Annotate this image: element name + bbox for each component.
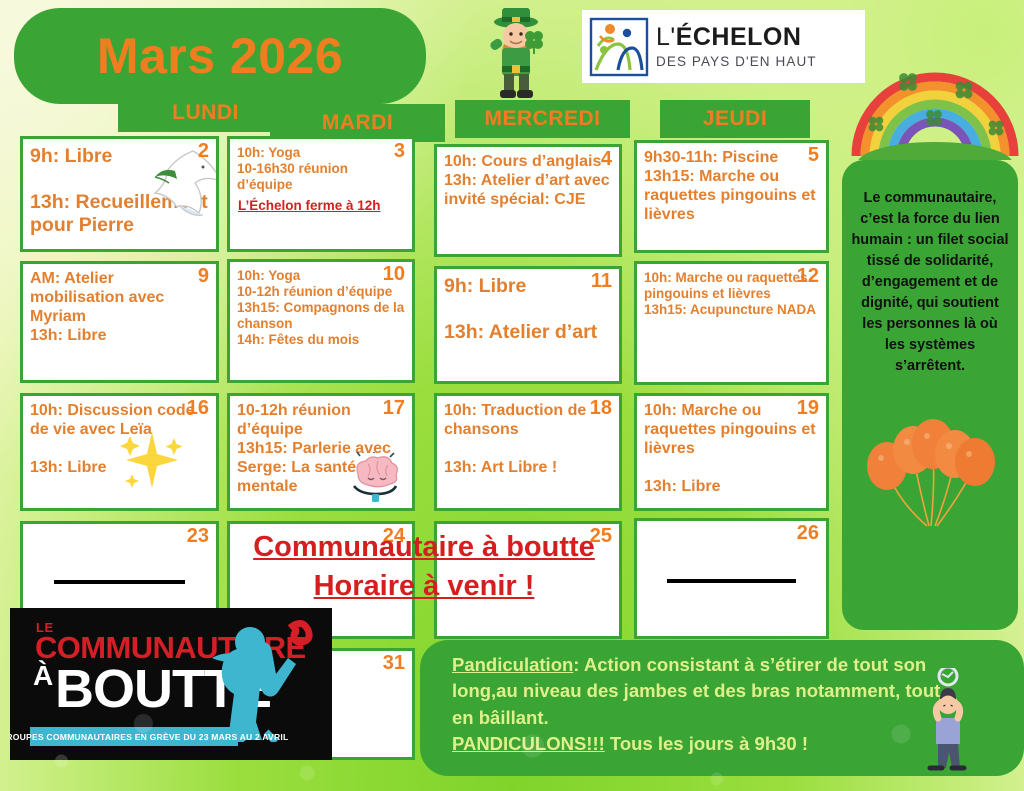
poster-a: À <box>33 660 53 692</box>
day-number: 19 <box>797 398 819 418</box>
organization-logo: L'ÉCHELON DES PAYS D'EN HAUT <box>582 10 865 83</box>
calendar-cell-3[interactable]: 3 10h: Yoga 10-16h30 réunion d’équipe L’… <box>227 136 415 252</box>
cell-text: 10h: Yoga 10-16h30 réunion d’équipe <box>230 139 412 197</box>
day-number: 9 <box>198 266 209 286</box>
day-header-mercredi: MERCREDI <box>455 100 630 138</box>
logo-line2: DES PAYS D'EN HAUT <box>656 55 817 69</box>
day-number: 5 <box>808 145 819 165</box>
day-number: 25 <box>590 526 612 546</box>
day-number: 4 <box>601 149 612 169</box>
calendar-cell-11[interactable]: 11 9h: Libre 13h: Atelier d’art <box>434 266 622 384</box>
calendar-cell-5[interactable]: 5 9h30-11h: Piscine 13h15: Marche ou raq… <box>634 140 829 253</box>
day-header-jeudi: JEUDI <box>660 100 810 138</box>
day-number: 26 <box>797 523 819 543</box>
day-header-label: LUNDI <box>172 101 239 125</box>
rainbow-icon <box>846 52 1024 160</box>
month-title-pill: Mars 2026 <box>14 8 426 104</box>
calendar-cell-10[interactable]: 10 10h: Yoga 10-12h réunion d’équipe 13h… <box>227 259 415 383</box>
day-number: 16 <box>187 398 209 418</box>
pandiculation-text: Pandiculation: Action consistant à s’éti… <box>452 652 952 757</box>
brain-meditation-icon <box>344 452 406 504</box>
cancelled-line <box>667 579 796 583</box>
page-title: Mars 2026 <box>97 27 343 85</box>
logo-line1: ÉCHELON <box>676 23 802 51</box>
cell-text: 10h: Cours d’anglais 13h: Atelier d’art … <box>437 147 619 214</box>
day-number: 10 <box>383 264 405 284</box>
cell-text: AM: Atelier mobilisation avec Myriam 13h… <box>23 264 216 350</box>
day-number: 24 <box>383 526 405 546</box>
strike-poster: LE COMMUNAUTAIRE À BOUTTE LES GROUPES CO… <box>10 608 332 760</box>
logo-line1-prefix: L' <box>656 23 676 51</box>
cancelled-line <box>54 580 185 584</box>
day-number: 3 <box>394 141 405 161</box>
balloons-icon <box>857 408 1005 528</box>
logo-mark-icon <box>588 16 650 78</box>
cell-note-closure: L’Échelon ferme à 12h <box>238 198 412 213</box>
calendar-cell-17[interactable]: 17 10-12h réunion d’équipe 13h15: Parler… <box>227 393 415 511</box>
sparkle-icon <box>112 418 188 492</box>
calendar-cell-25[interactable]: 25 <box>434 521 622 639</box>
calendar-cell-12[interactable]: 12 10h: Marche ou raquettes pingouins et… <box>634 261 829 385</box>
day-number: 17 <box>383 398 405 418</box>
day-number: 12 <box>797 266 819 286</box>
calendar-cell-9[interactable]: 9 AM: Atelier mobilisation avec Myriam 1… <box>20 261 219 383</box>
leprechaun-icon <box>478 4 554 104</box>
calendar-cell-18[interactable]: 18 10h: Traduction de chansons 13h: Art … <box>434 393 622 511</box>
day-header-lundi: LUNDI <box>118 94 293 132</box>
day-number: 31 <box>383 653 405 673</box>
pandiculation-term: Pandiculation <box>452 654 573 675</box>
day-number: 11 <box>591 271 612 291</box>
cell-text: 9h30-11h: Piscine 13h15: Marche ou raque… <box>637 143 826 229</box>
day-number: 23 <box>187 526 209 546</box>
day-header-label: MARDI <box>322 111 393 135</box>
protester-icon <box>192 614 324 742</box>
day-header-label: MERCREDI <box>484 107 600 131</box>
calendar-cell-4[interactable]: 4 10h: Cours d’anglais 13h: Atelier d’ar… <box>434 144 622 257</box>
calendar-cell-16[interactable]: 16 10h: Discussion code de vie avec Leïa… <box>20 393 219 511</box>
calendar-cell-26[interactable]: 26 <box>634 518 829 639</box>
poster-subtitle: LES GROUPES COMMUNAUTAIRES EN GRÈVE DU 2… <box>30 727 238 746</box>
calendar-cell-19[interactable]: 19 10h: Marche ou raquettes pingouins et… <box>634 393 829 511</box>
day-number: 18 <box>590 398 612 418</box>
stretching-person-icon <box>912 668 984 772</box>
pandiculation-call: PANDICULONS!!! <box>452 733 605 754</box>
calendar-cell-2[interactable]: 2 9h: Libre 13h: Recueillement pour Pier… <box>20 136 219 252</box>
calendar-page: Mars 2026 <box>0 0 1024 791</box>
community-quote: Le communautaire, c’est la force du lien… <box>851 188 1009 377</box>
day-header-label: JEUDI <box>703 107 767 131</box>
day-number: 2 <box>198 141 209 161</box>
pandiculation-call-rest: Tous les jours à 9h30 ! <box>605 733 808 754</box>
